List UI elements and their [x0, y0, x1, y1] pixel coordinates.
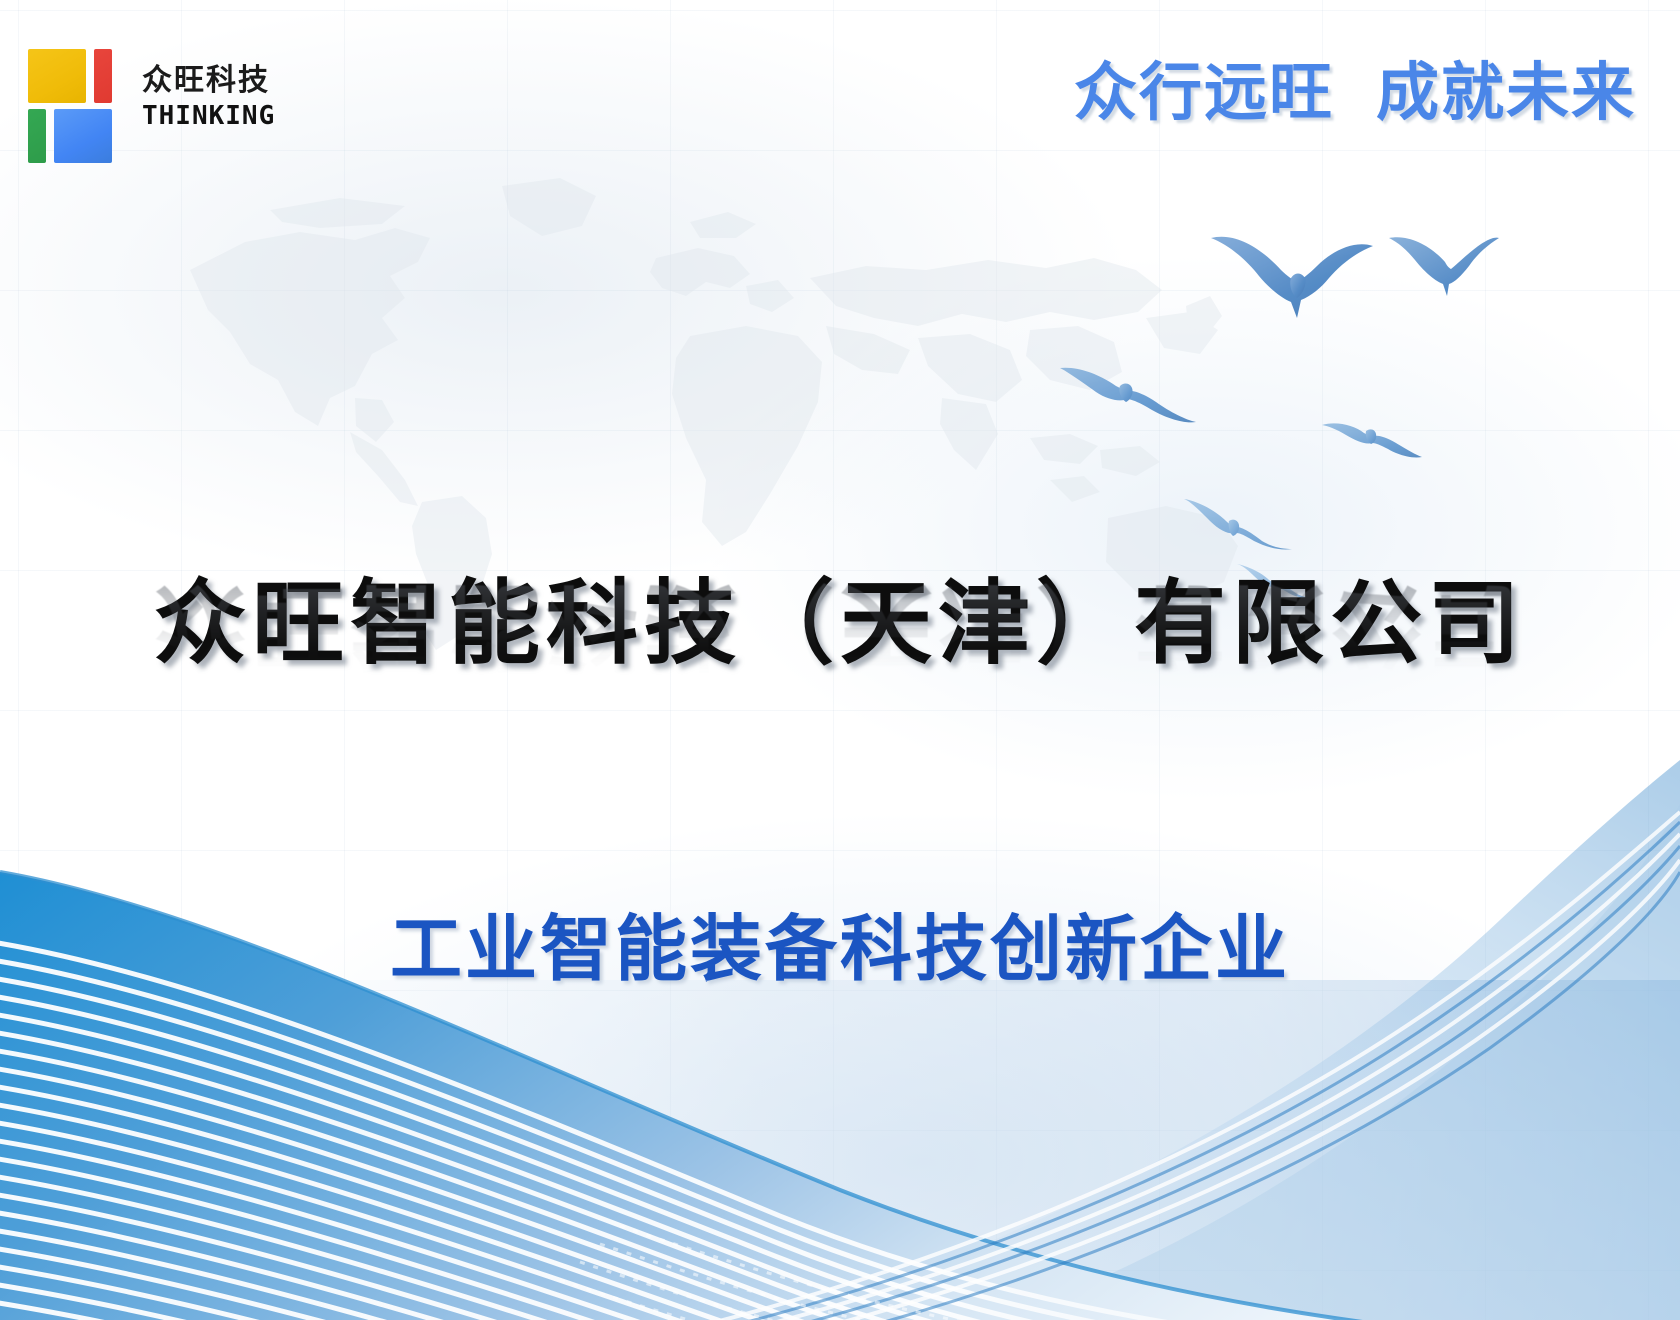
green-block-icon: [28, 109, 46, 163]
logo-wordmark: 众旺科技 THINKING: [142, 35, 275, 147]
seagull-icon: [1385, 226, 1501, 298]
seagull-icon: [1205, 222, 1377, 322]
logo-name-en: THINKING: [142, 99, 275, 134]
bottom-wave-decoration: [0, 760, 1680, 1320]
seagull-icon: [1320, 415, 1424, 463]
blue-block-icon: [54, 109, 112, 163]
page-title-reflection: 众旺智能科技（天津）有限公司: [0, 574, 1680, 677]
tagline-part-1: 众行远旺: [1074, 56, 1334, 129]
presentation-slide: 众旺科技 THINKING 众行远旺成就未来: [0, 0, 1680, 1320]
seagull-icon: [1182, 495, 1294, 551]
logo-name-cn: 众旺科技: [142, 64, 275, 99]
red-block-icon: [94, 49, 112, 103]
page-subtitle: 工业智能装备科技创新企业: [0, 908, 1680, 991]
logo-mark: [28, 35, 124, 147]
title-block: 众旺智能科技（天津）有限公司 众旺智能科技（天津）有限公司: [0, 572, 1680, 780]
yellow-block-icon: [28, 49, 86, 103]
company-logo[interactable]: 众旺科技 THINKING: [28, 24, 318, 158]
slide-tagline: 众行远旺成就未来: [1074, 58, 1636, 127]
tagline-part-2: 成就未来: [1376, 56, 1636, 129]
seagull-icon: [1058, 360, 1198, 430]
